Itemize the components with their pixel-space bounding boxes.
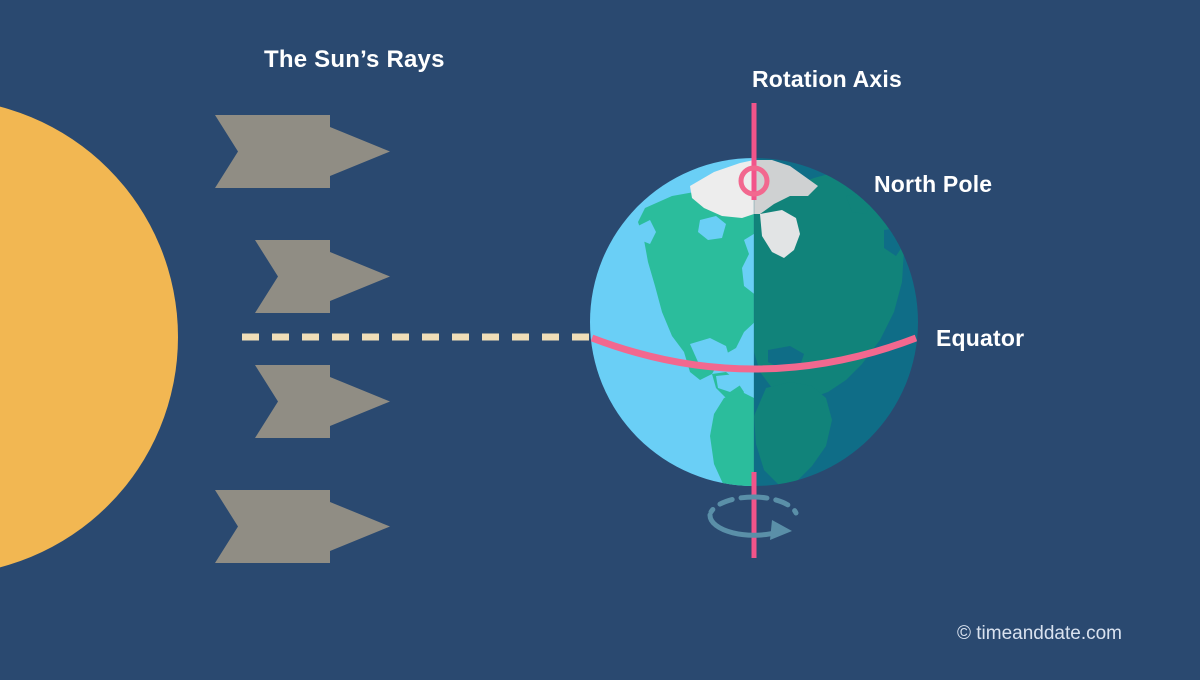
rotation-arc-dashed-left: [711, 497, 754, 512]
rotation-arc-solid: [710, 515, 778, 535]
diagram-canvas: The Sun’s Rays Rotation Axis North Pole …: [0, 0, 1200, 675]
rotation-axis-label: Rotation Axis: [752, 66, 902, 93]
equator-label: Equator: [936, 325, 1024, 352]
copyright-credit: © timeanddate.com: [957, 623, 1122, 645]
sun-ray-arrow-2: [255, 240, 390, 313]
sun-rays-label: The Sun’s Rays: [264, 46, 445, 74]
sun: [0, 99, 178, 575]
sun-ray-arrow-1: [215, 115, 390, 188]
sun-disc: [0, 99, 178, 575]
sun-ray-arrow-4: [215, 490, 390, 563]
sun-ray-arrow-3: [255, 365, 390, 438]
north-pole-label: North Pole: [874, 171, 992, 198]
rotation-arrowhead-icon: [770, 520, 792, 540]
rotation-arc-dashed-right: [754, 497, 796, 513]
earth-globe: [590, 158, 918, 486]
